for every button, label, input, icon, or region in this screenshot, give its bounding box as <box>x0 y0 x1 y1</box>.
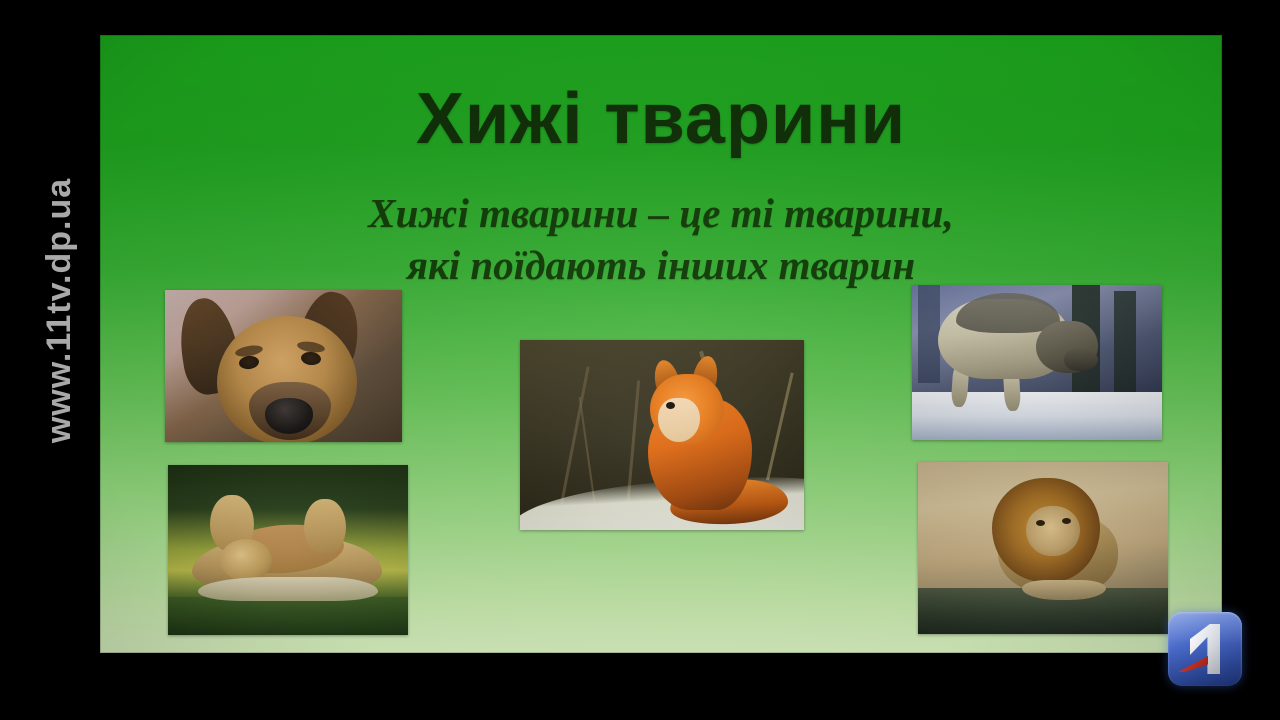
dog-scene <box>165 290 402 442</box>
channel-logo-red-accent-icon <box>1178 656 1208 672</box>
slide-subtitle: Хижі тварини – це ті тварини, які поїдаю… <box>100 187 1222 292</box>
cheetah-cub-right <box>304 499 346 553</box>
presentation-slide: Хижі тварини Хижі тварини – це ті тварин… <box>100 35 1222 653</box>
slide-subtitle-line-1: Хижі тварини – це ті тварини, <box>100 187 1222 239</box>
slide-title: Хижі тварини <box>100 83 1222 155</box>
photo-german-shepherd-dog <box>165 290 402 442</box>
lion-scene <box>918 462 1168 634</box>
photo-grey-wolf <box>912 285 1162 440</box>
video-frame: www.11tv.dp.ua Хижі тварини Хижі тварини… <box>0 0 1280 720</box>
wolf-scene <box>912 285 1162 440</box>
wolf-snout <box>1064 349 1098 371</box>
wolf-tree-2 <box>1114 291 1136 403</box>
cheetah-head <box>220 539 272 581</box>
wolf-tree-3 <box>918 285 940 383</box>
cheetah-grass <box>168 597 408 635</box>
channel-logo-gloss <box>1168 612 1242 686</box>
wolf-snowbank <box>912 392 1162 440</box>
lion-face <box>1026 506 1080 556</box>
lion-eye-right <box>1062 518 1071 524</box>
channel-one-logo <box>1168 612 1242 686</box>
photo-cheetahs <box>168 465 408 635</box>
photo-lion <box>918 462 1168 634</box>
station-watermark: www.11tv.dp.ua <box>30 100 90 520</box>
cheetah-scene <box>168 465 408 635</box>
photo-red-fox <box>520 340 804 530</box>
lion-eye-left <box>1036 520 1045 526</box>
cheetah-legs <box>198 577 378 601</box>
fox-scene <box>520 340 804 530</box>
station-watermark-text: www.11tv.dp.ua <box>41 177 80 442</box>
fox-eye <box>666 402 675 409</box>
lion-paws <box>1022 580 1106 600</box>
